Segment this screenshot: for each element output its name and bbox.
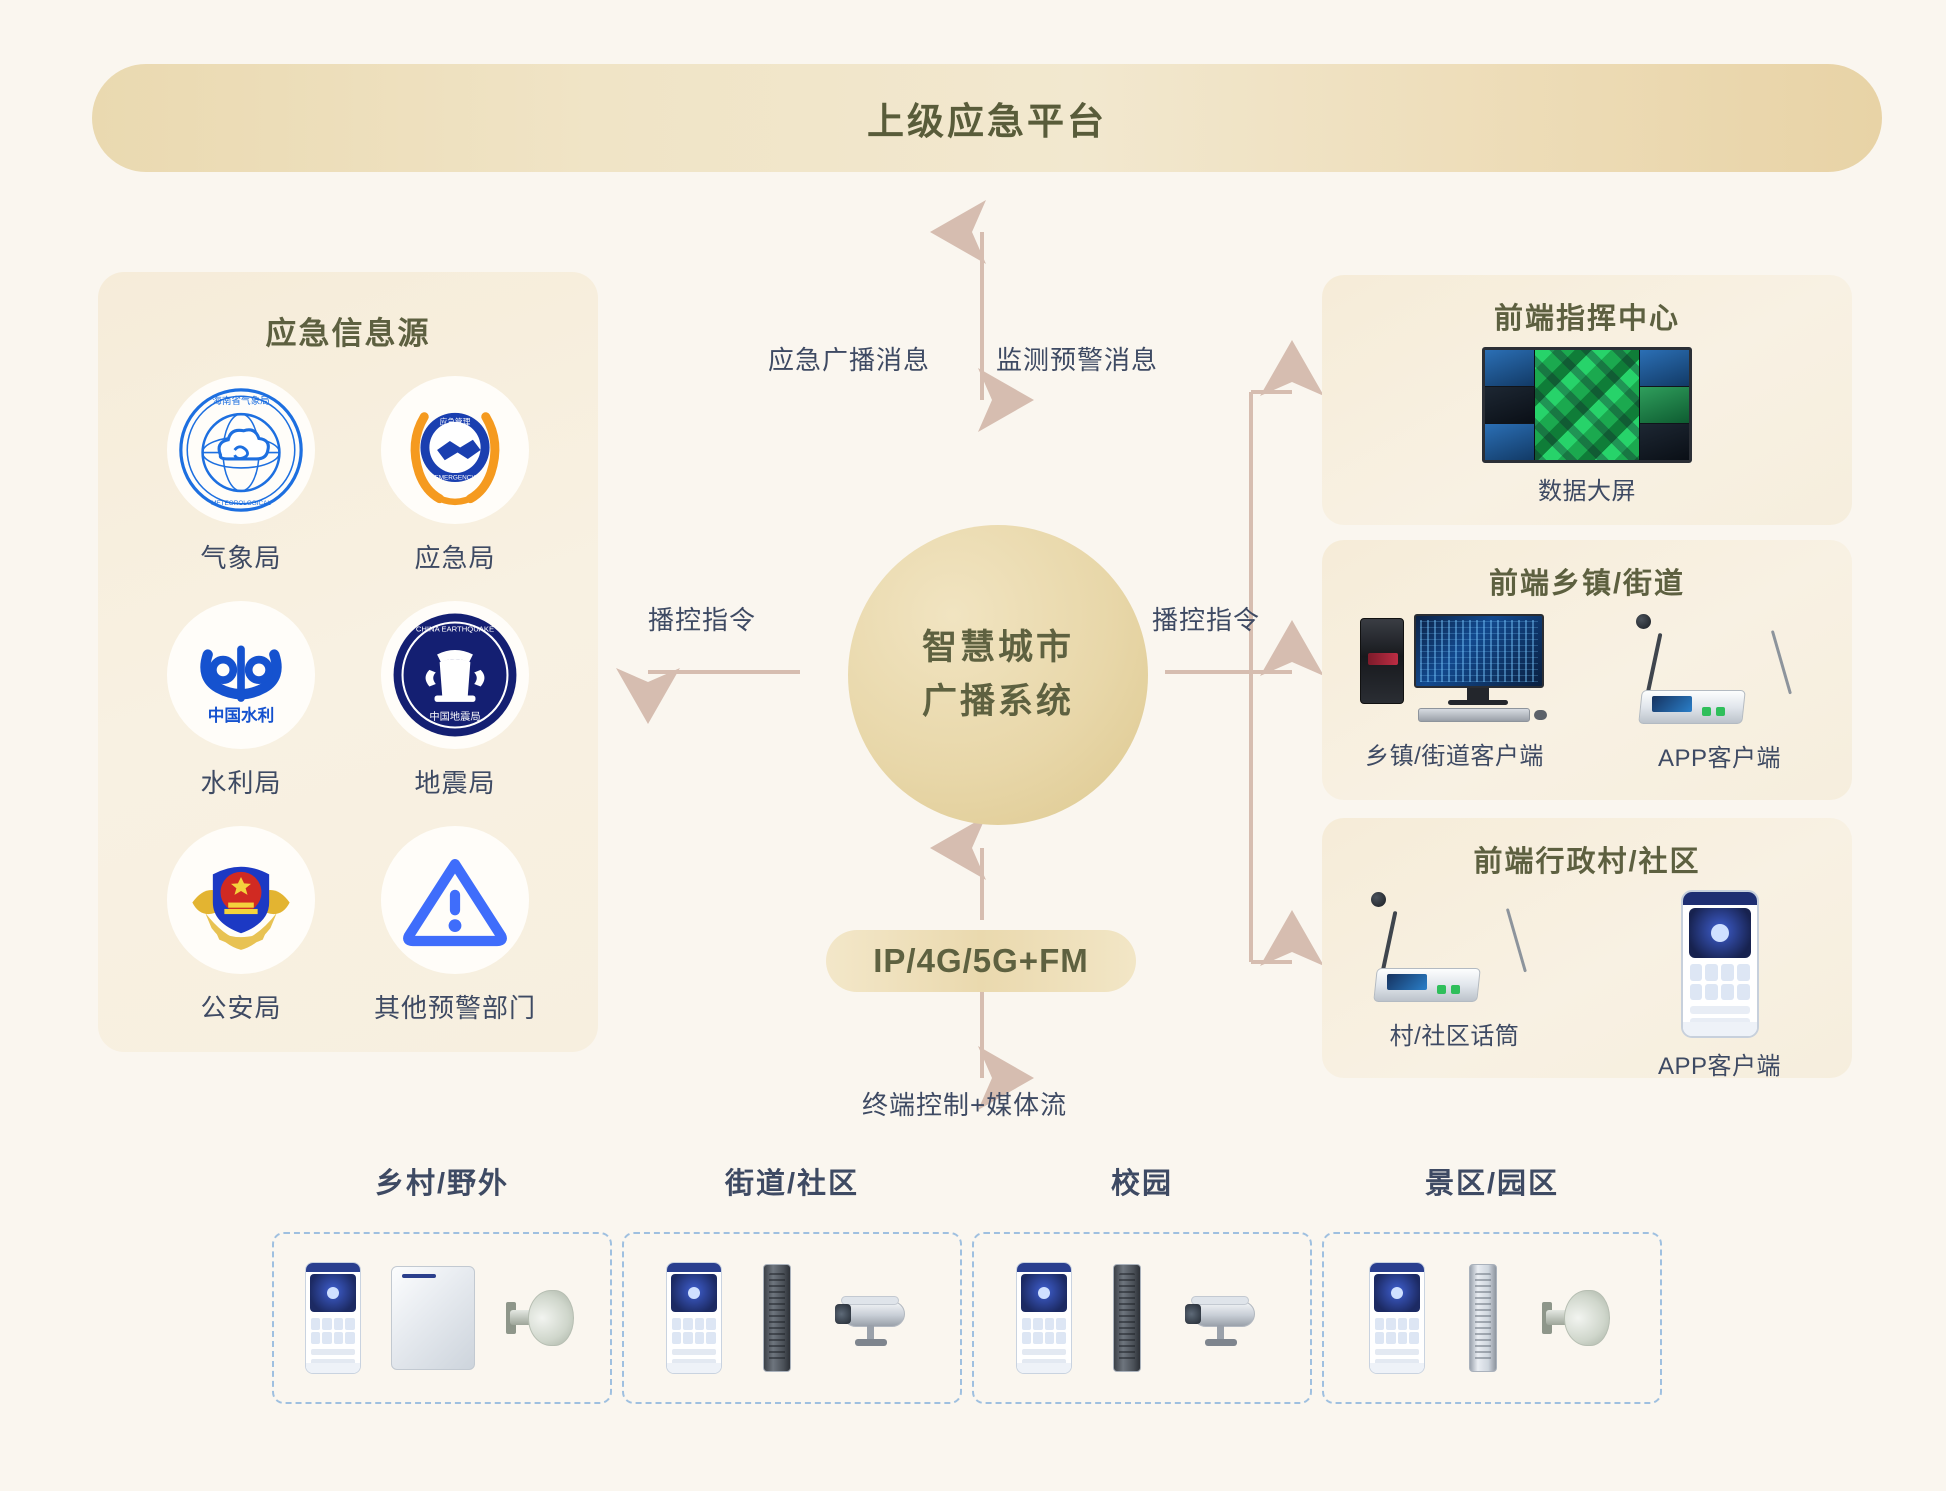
video-wall-icon <box>1482 347 1692 463</box>
item-data-screen[interactable]: 数据大屏 <box>1470 347 1705 506</box>
desktop-microphone-icon <box>1365 890 1545 1008</box>
item-label: 乡镇/街道客户端 <box>1365 736 1544 771</box>
svg-text:METEOROLOGICAL: METEOROLOGICAL <box>211 500 271 507</box>
source-item-emergency[interactable]: 应急管理 EMERGENCY 应急局 <box>348 376 562 575</box>
upper-emergency-platform-banner[interactable]: 上级应急平台 <box>92 64 1882 172</box>
source-item-earthquake[interactable]: CHINA EARTHQUAKE 中国地震局 地震局 <box>348 601 562 800</box>
svg-text:CHINA EARTHQUAKE: CHINA EARTHQUAKE <box>416 624 494 633</box>
item-label: 数据大屏 <box>1538 471 1636 506</box>
center-title-line1: 智慧城市 <box>922 621 1074 675</box>
source-grid: 海南省气象局 METEOROLOGICAL 气象局 应急管理 <box>134 376 562 1025</box>
security-camera-icon <box>833 1289 919 1347</box>
source-label: 应急局 <box>414 538 495 575</box>
scenario-label-campus: 校园 <box>972 1160 1312 1202</box>
china-water-resources-icon: 中国水利 <box>167 601 315 749</box>
smartphone-icon <box>305 1262 361 1374</box>
card-items: 乡镇/街道客户端 APP客户端 <box>1322 612 1852 792</box>
source-label: 水利局 <box>200 763 281 800</box>
outdoor-cabinet-icon <box>391 1266 475 1370</box>
item-label: 村/社区话筒 <box>1390 1016 1520 1051</box>
left-panel-title: 应急信息源 <box>98 308 598 353</box>
network-transport-text: IP/4G/5G+FM <box>873 942 1088 980</box>
card-items: 数据大屏 <box>1322 347 1852 527</box>
smartphone-icon <box>1016 1262 1072 1374</box>
flow-label-broadcast-control-left: 播控指令 <box>648 600 756 637</box>
source-label: 其他预警部门 <box>374 988 536 1025</box>
flow-label-emergency-broadcast: 应急广播消息 <box>768 340 930 377</box>
svg-text:应急管理: 应急管理 <box>440 416 471 426</box>
svg-text:EMERGENCY: EMERGENCY <box>434 474 476 481</box>
column-speaker-light-icon <box>1469 1264 1497 1372</box>
column-speaker-dark-icon <box>1113 1264 1141 1372</box>
smartphone-icon <box>1369 1262 1425 1374</box>
diagram-canvas: 上级应急平台 应急信息源 海南省气象局 METEO <box>0 0 1946 1491</box>
scenario-box-rural[interactable] <box>272 1232 612 1404</box>
banner-title: 上级应急平台 <box>867 91 1107 145</box>
scenario-label-rural: 乡村/野外 <box>272 1160 612 1202</box>
source-item-water-resources[interactable]: 中国水利 水利局 <box>134 601 348 800</box>
scenario-box-street[interactable] <box>622 1232 962 1404</box>
svg-text:中国水利: 中国水利 <box>208 705 275 725</box>
emergency-management-seal-icon: 应急管理 EMERGENCY <box>381 376 529 524</box>
security-camera-icon <box>1183 1289 1269 1347</box>
source-item-meteorological[interactable]: 海南省气象局 METEOROLOGICAL 气象局 <box>134 376 348 575</box>
source-label: 气象局 <box>200 538 281 575</box>
network-transport-badge: IP/4G/5G+FM <box>826 930 1136 992</box>
smart-city-broadcast-system-node[interactable]: 智慧城市 广播系统 <box>848 525 1148 825</box>
china-earthquake-administration-seal-icon: CHINA EARTHQUAKE 中国地震局 <box>381 601 529 749</box>
arrow-center-to-frontends <box>1165 392 1292 962</box>
scenario-box-campus[interactable] <box>972 1232 1312 1404</box>
item-village-microphone[interactable]: 村/社区话筒 <box>1337 890 1572 1051</box>
svg-text:海南省气象局: 海南省气象局 <box>212 395 269 407</box>
flow-label-broadcast-control-right: 播控指令 <box>1152 600 1260 637</box>
desktop-computer-icon <box>1360 612 1550 728</box>
card-title: 前端乡镇/街道 <box>1322 560 1852 602</box>
scenario-box-scenic[interactable] <box>1322 1232 1662 1404</box>
public-security-badge-icon <box>167 826 315 974</box>
front-end-command-center-card: 前端指挥中心 数据大屏 <box>1322 275 1852 525</box>
front-end-village-community-card: 前端行政村/社区 村/社区话筒 <box>1322 818 1852 1078</box>
flow-label-terminal-media-stream: 终端控制+媒体流 <box>862 1085 1067 1122</box>
smartphone-icon <box>1681 890 1759 1038</box>
smartphone-icon <box>666 1262 722 1374</box>
item-app-client-township[interactable]: APP客户端 <box>1602 612 1837 773</box>
item-label: APP客户端 <box>1658 738 1781 773</box>
svg-text:中国地震局: 中国地震局 <box>429 710 480 723</box>
item-label: APP客户端 <box>1658 1046 1781 1081</box>
warning-triangle-icon <box>381 826 529 974</box>
item-township-client[interactable]: 乡镇/街道客户端 <box>1337 612 1572 771</box>
desktop-microphone-icon <box>1630 612 1810 730</box>
scenario-label-scenic: 景区/园区 <box>1322 1160 1662 1202</box>
item-app-client-village[interactable]: APP客户端 <box>1602 890 1837 1081</box>
source-item-other-warning[interactable]: 其他预警部门 <box>348 826 562 1025</box>
center-title-line2: 广播系统 <box>922 675 1074 729</box>
column-speaker-dark-icon <box>763 1264 791 1372</box>
emergency-information-sources-panel: 应急信息源 海南省气象局 METEOROLOGICAL <box>98 272 598 1052</box>
horn-speaker-icon <box>506 1286 580 1350</box>
card-items: 村/社区话筒 APP客户端 <box>1322 890 1852 1070</box>
card-title: 前端行政村/社区 <box>1322 838 1852 880</box>
horn-speaker-icon <box>1542 1286 1616 1350</box>
source-label: 公安局 <box>200 988 281 1025</box>
front-end-township-street-card: 前端乡镇/街道 乡镇/街道客户端 <box>1322 540 1852 800</box>
meteorological-bureau-seal-icon: 海南省气象局 METEOROLOGICAL <box>167 376 315 524</box>
scenario-label-street: 街道/社区 <box>622 1160 962 1202</box>
card-title: 前端指挥中心 <box>1322 295 1852 337</box>
source-item-public-security[interactable]: 公安局 <box>134 826 348 1025</box>
flow-label-monitoring-warning: 监测预警消息 <box>996 340 1158 377</box>
source-label: 地震局 <box>414 763 495 800</box>
